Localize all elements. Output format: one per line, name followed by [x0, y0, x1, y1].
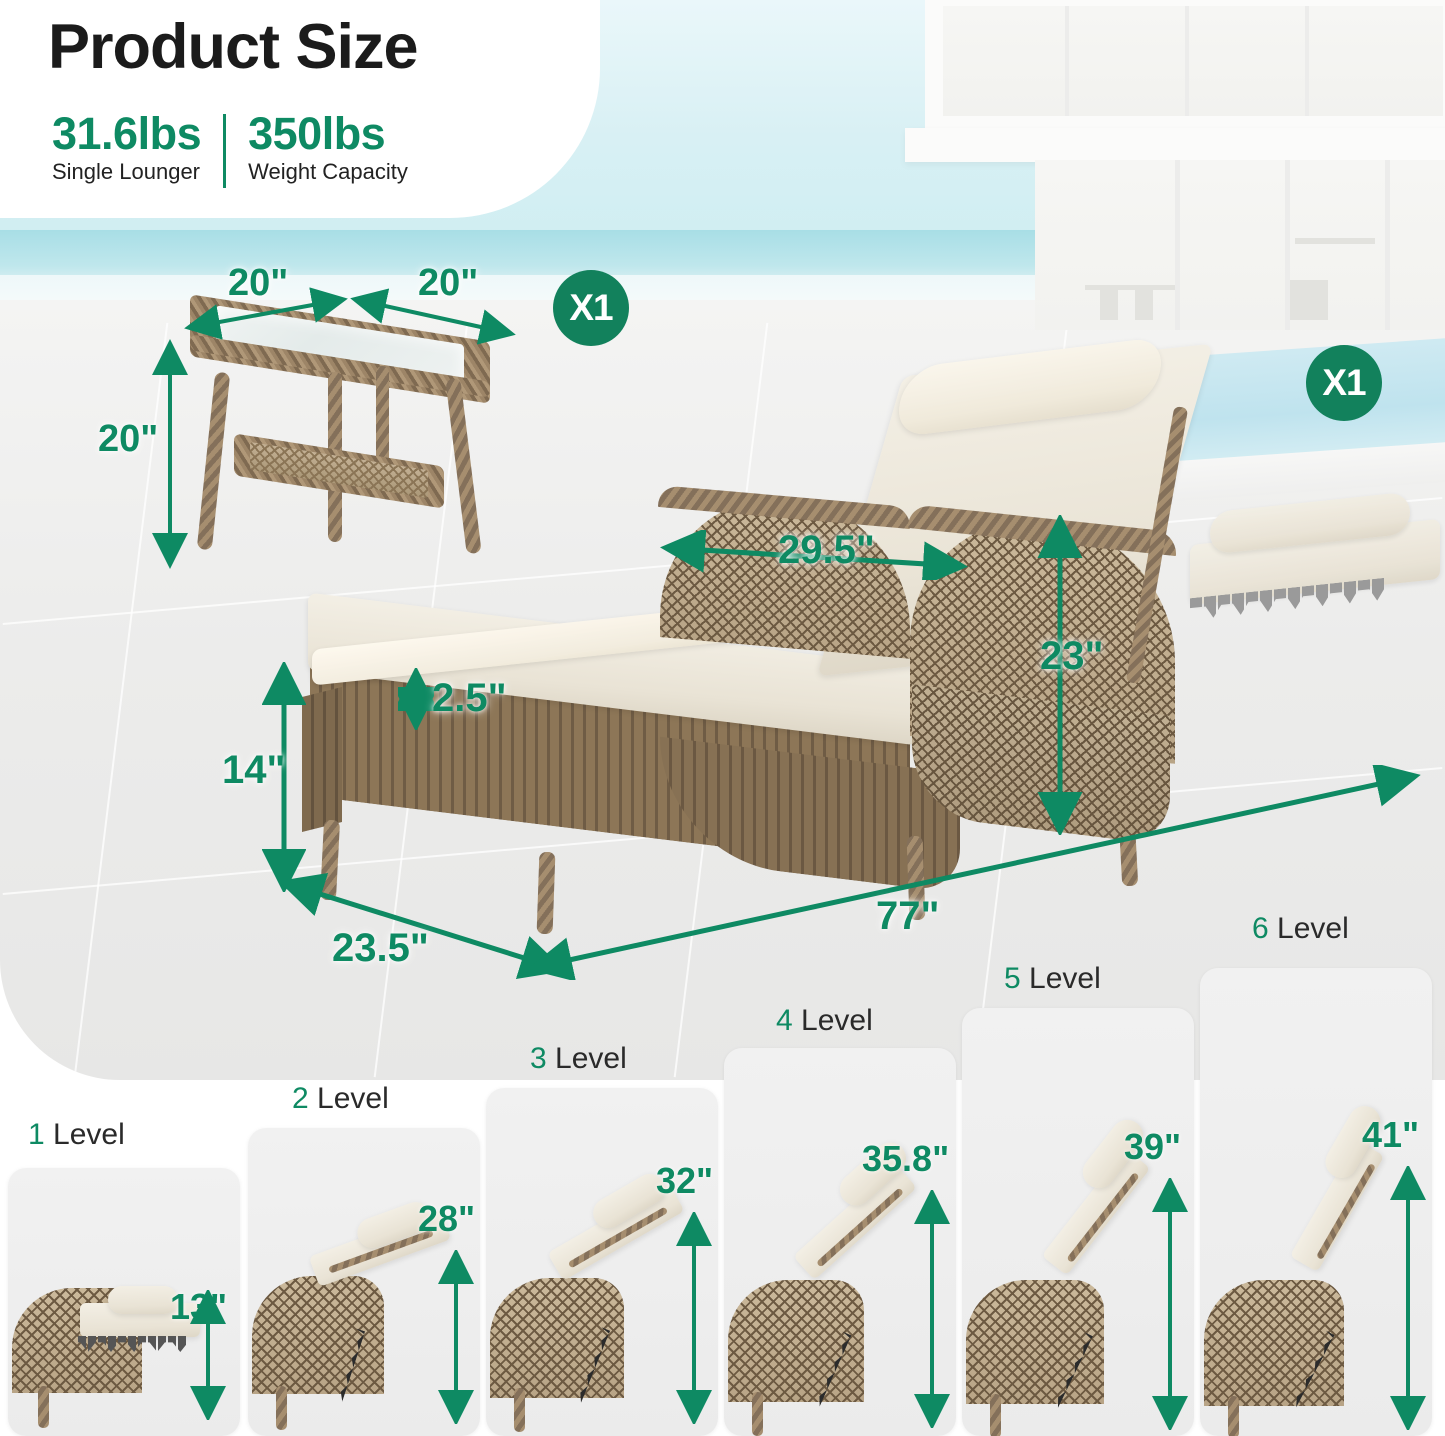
- base-width-label: 23.5": [332, 926, 429, 971]
- arm-height-label: 23": [1040, 634, 1103, 679]
- total-length-label: 77": [876, 894, 939, 939]
- total-length-arrow: [525, 765, 1425, 980]
- seat-height-label: 14": [222, 748, 285, 793]
- villa-upper-glass: [943, 6, 1443, 116]
- table-quantity-label: X1: [569, 287, 612, 329]
- lounger-base-side-panel: [302, 687, 342, 832]
- table-dimension-arrows: [140, 255, 540, 585]
- villa-building: [885, 0, 1445, 330]
- level-4-height-arrow: [914, 1190, 950, 1428]
- level-6-height-label: 41": [1362, 1114, 1419, 1156]
- level-3-number: 3: [530, 1042, 555, 1075]
- level-3-height-label: 32": [656, 1160, 713, 1202]
- header-card: Product Size 31.6lbs Single Lounger 350l…: [0, 0, 600, 218]
- villa-interior-table: [1085, 285, 1175, 290]
- lounger-quantity-label: X1: [1322, 362, 1365, 404]
- level-1-number: 1: [28, 1118, 53, 1151]
- level-1-height-arrow: [190, 1290, 226, 1420]
- villa-mullion: [1185, 6, 1189, 116]
- cushion-thickness-arrow: [398, 668, 434, 730]
- level-4-height-label: 35.8": [862, 1138, 949, 1180]
- level-5-height-label: 39": [1124, 1126, 1181, 1168]
- stat-capacity-label: Weight Capacity: [248, 159, 408, 185]
- stat-weight: 31.6lbs Single Lounger: [52, 110, 201, 185]
- villa-interior-counter: [1295, 238, 1375, 244]
- villa-mullion: [1065, 6, 1069, 116]
- table-width-left-label: 20": [228, 262, 288, 305]
- level-3-height-arrow: [676, 1212, 712, 1424]
- stats-divider: [223, 114, 226, 188]
- level-4-number: 4: [776, 1004, 801, 1037]
- villa-mullion: [1305, 6, 1309, 116]
- level-5-height-arrow: [1152, 1178, 1188, 1430]
- level-1-label: 1 Level: [28, 1118, 125, 1152]
- level-2-height-arrow: [438, 1250, 474, 1424]
- seat-width-label: 29.5": [778, 528, 875, 573]
- infographic-root: Product Size 31.6lbs Single Lounger 350l…: [0, 0, 1445, 1436]
- page-title: Product Size: [48, 16, 418, 79]
- stat-weight-value: 31.6lbs: [52, 110, 201, 157]
- level-1-word: Level: [53, 1118, 125, 1151]
- stat-capacity-value: 350lbs: [248, 110, 408, 157]
- level-4-label: 4 Level: [776, 1004, 873, 1038]
- level-6-height-arrow: [1390, 1166, 1426, 1430]
- level-3-label: 3 Level: [530, 1042, 627, 1076]
- level-4-word: Level: [801, 1004, 873, 1037]
- table-height-label: 20": [98, 418, 158, 461]
- level-2-number: 2: [292, 1082, 317, 1115]
- level-2-word: Level: [317, 1082, 389, 1115]
- stat-weight-label: Single Lounger: [52, 159, 201, 185]
- level-3-word: Level: [555, 1042, 627, 1075]
- lounger-quantity-badge: X1: [1306, 345, 1382, 421]
- table-quantity-badge: X1: [553, 270, 629, 346]
- villa-floor-slab: [905, 128, 1445, 162]
- level-2-height-label: 28": [418, 1198, 475, 1240]
- cushion-thickness-label: 2.5": [432, 676, 507, 721]
- stats-row: 31.6lbs Single Lounger 350lbs Weight Cap…: [52, 110, 408, 188]
- level-2-label: 2 Level: [292, 1082, 389, 1116]
- table-width-right-label: 20": [418, 262, 478, 305]
- stat-capacity: 350lbs Weight Capacity: [248, 110, 408, 185]
